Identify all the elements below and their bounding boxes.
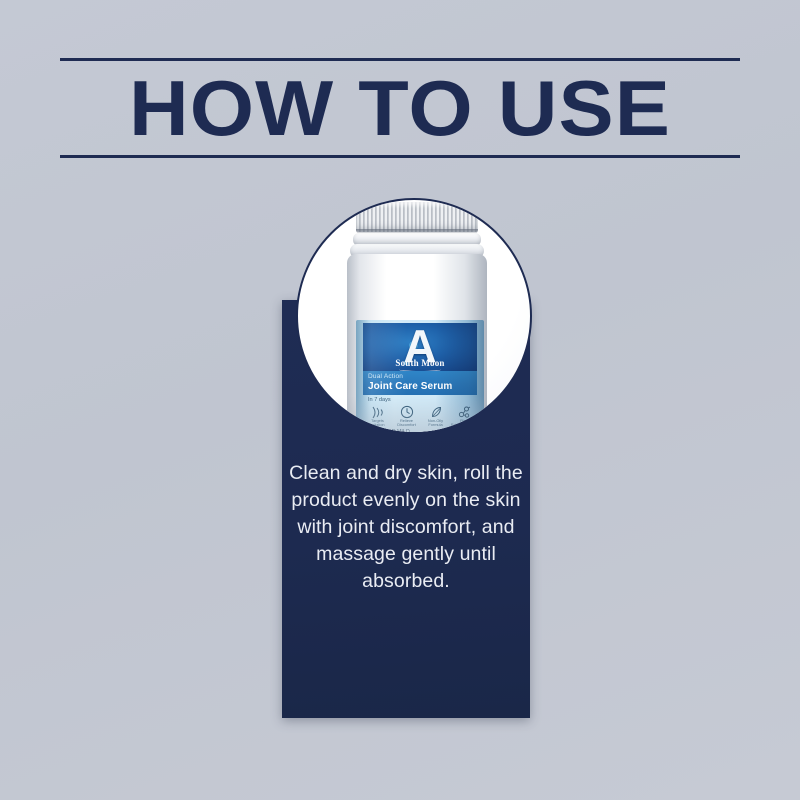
instruction-text: Clean and dry skin, roll the product eve… xyxy=(286,460,526,595)
label-product-name: Joint Care Serum xyxy=(368,380,452,393)
title-rule-bottom xyxy=(60,155,740,158)
bottle-cap-ribbed xyxy=(356,202,478,232)
product-bottle: A South Moon Dual Action Joint Care Seru… xyxy=(344,200,490,434)
product-image-circle: A South Moon Dual Action Joint Care Seru… xyxy=(296,198,532,434)
label-title-band: Dual Action Joint Care Serum xyxy=(363,371,477,395)
title-rule-top xyxy=(60,58,740,61)
poster-canvas: HOW TO USE A South Moon xyxy=(0,0,800,800)
page-title: HOW TO USE xyxy=(40,64,761,152)
bottle-bottom-shading xyxy=(347,396,487,434)
label-hero-panel: A South Moon xyxy=(363,323,477,371)
header-block: HOW TO USE xyxy=(60,58,740,158)
